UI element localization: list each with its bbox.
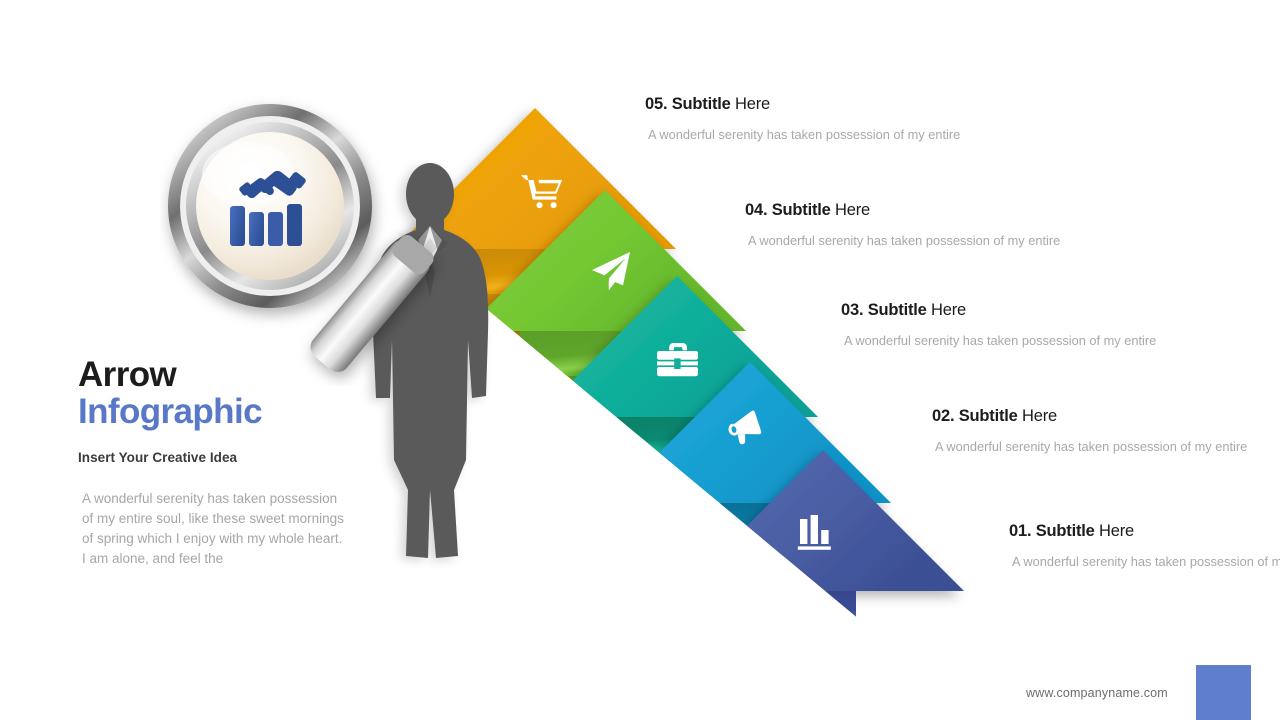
- item-05-title-bold: Subtitle: [672, 95, 731, 113]
- item-02-title-light: Here: [1022, 407, 1057, 425]
- item-03-title-bold: Subtitle: [868, 301, 927, 319]
- item-05-title: 05. Subtitle Here: [645, 95, 975, 114]
- item-01-title-bold: Subtitle: [1036, 522, 1095, 540]
- item-04-number: 04.: [745, 201, 767, 219]
- item-04[interactable]: 04. Subtitle Here A wonderful serenity h…: [745, 201, 1075, 251]
- headline-subtitle: Insert Your Creative Idea: [78, 450, 346, 465]
- item-05-body: A wonderful serenity has taken possessio…: [645, 126, 975, 145]
- item-01-body: A wonderful serenity has taken possessio…: [1009, 553, 1280, 572]
- item-04-title: 04. Subtitle Here: [745, 201, 1075, 220]
- item-05[interactable]: 05. Subtitle Here A wonderful serenity h…: [645, 95, 975, 145]
- item-04-title-light: Here: [835, 201, 870, 219]
- item-01-title: 01. Subtitle Here: [1009, 522, 1280, 541]
- slide-canvas: Arrow Infographic Insert Your Creative I…: [0, 0, 1280, 720]
- item-04-title-bold: Subtitle: [772, 201, 831, 219]
- item-02[interactable]: 02. Subtitle Here A wonderful serenity h…: [932, 407, 1262, 457]
- item-05-number: 05.: [645, 95, 667, 113]
- footer-website-url[interactable]: www.companyname.com: [1026, 686, 1168, 700]
- item-04-body: A wonderful serenity has taken possessio…: [745, 232, 1075, 251]
- page-title-line1: Arrow: [78, 356, 346, 393]
- item-01-number: 01.: [1009, 522, 1031, 540]
- item-02-title-bold: Subtitle: [959, 407, 1018, 425]
- item-01-title-light: Here: [1099, 522, 1134, 540]
- magnifying-glass[interactable]: [160, 96, 450, 386]
- item-03[interactable]: 03. Subtitle Here A wonderful serenity h…: [841, 301, 1171, 351]
- item-01[interactable]: 01. Subtitle Here A wonderful serenity h…: [1009, 522, 1280, 572]
- item-03-body: A wonderful serenity has taken possessio…: [841, 332, 1171, 351]
- headline-block: Arrow Infographic Insert Your Creative I…: [78, 356, 346, 569]
- item-02-number: 02.: [932, 407, 954, 425]
- page-title-line2: Infographic: [78, 393, 346, 430]
- footer-accent-square: [1196, 665, 1251, 720]
- item-03-title: 03. Subtitle Here: [841, 301, 1171, 320]
- item-03-number: 03.: [841, 301, 863, 319]
- item-05-title-light: Here: [735, 95, 770, 113]
- item-02-title: 02. Subtitle Here: [932, 407, 1262, 426]
- item-02-body: A wonderful serenity has taken possessio…: [932, 438, 1262, 457]
- headline-body: A wonderful serenity has taken possessio…: [78, 489, 346, 568]
- item-03-title-light: Here: [931, 301, 966, 319]
